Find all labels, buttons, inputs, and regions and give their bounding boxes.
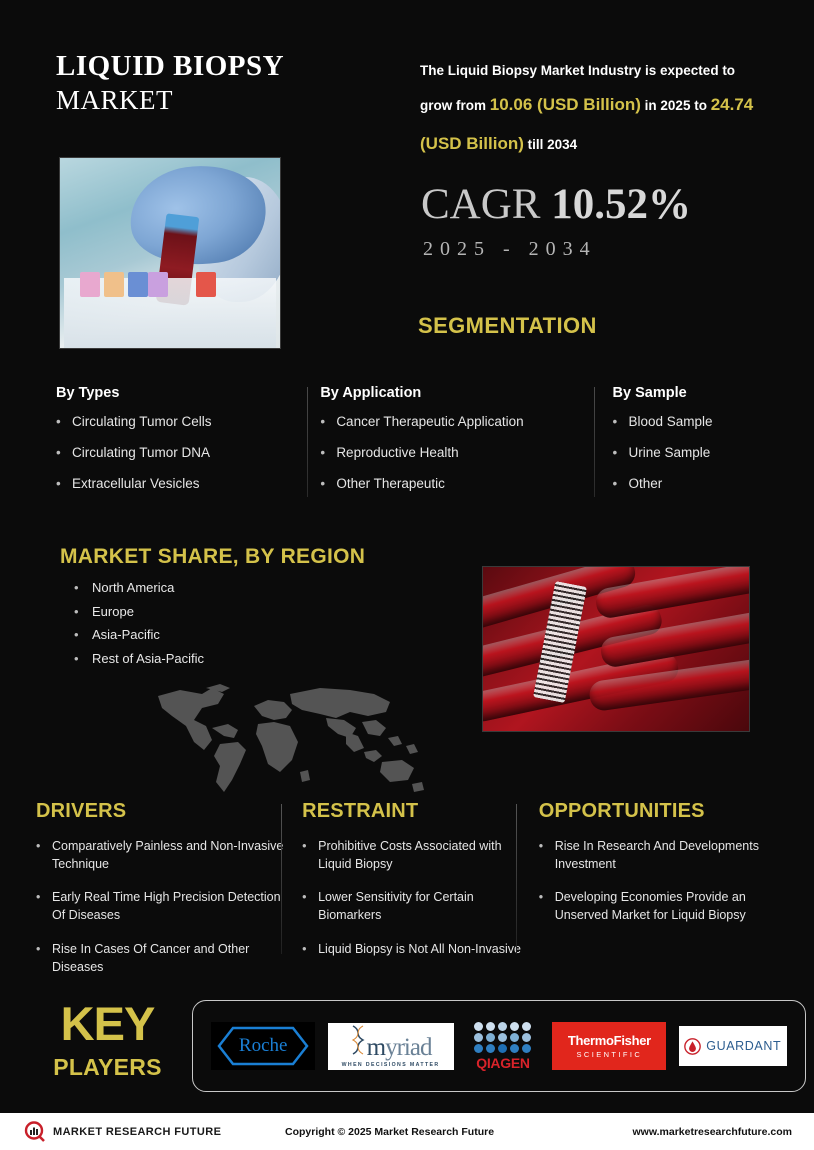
bullet-icon: • — [613, 445, 629, 462]
roche-hexagon-icon: Roche — [217, 1026, 309, 1066]
world-map-icon — [150, 676, 430, 796]
stat-suffix: till 2034 — [528, 137, 578, 152]
segmentation-columns: By Types •Circulating Tumor Cells •Circu… — [56, 385, 762, 507]
logo-roche[interactable]: Roche — [211, 1022, 315, 1070]
cagr-value: 10.52% — [551, 181, 691, 228]
list-item-label: Other — [629, 476, 663, 493]
tube-cap — [196, 272, 216, 297]
thermofisher-subtext: SCIENTIFIC — [577, 1050, 643, 1059]
region-label: North America — [92, 580, 174, 595]
bullet-icon: • — [613, 476, 629, 493]
bullet-icon: • — [56, 476, 72, 493]
blood-drop-icon — [684, 1038, 701, 1055]
myriad-tagline: WHEN DECISIONS MATTER — [342, 1062, 440, 1068]
list-item-label: Urine Sample — [629, 445, 711, 462]
footer-brand[interactable]: MARKET RESEARCH FUTURE — [24, 1121, 221, 1143]
list-item: •Blood Sample — [613, 414, 762, 431]
infographic-page: LIQUID BIOPSY MARKET The Liquid Biopsy M… — [0, 0, 814, 1150]
factors-row: DRIVERS •Comparatively Painless and Non-… — [36, 800, 781, 991]
bullet-icon: • — [74, 604, 92, 619]
bullet-icon: • — [539, 888, 555, 924]
blood-tubes-image — [482, 566, 750, 732]
bullet-icon: • — [320, 445, 336, 462]
thermofisher-wordmark: ThermoFisher — [568, 1033, 651, 1048]
list-item: •Asia-Pacific — [74, 627, 374, 642]
factor-column-drivers: DRIVERS •Comparatively Painless and Non-… — [36, 800, 290, 991]
guardant-wordmark: GUARDANT — [706, 1039, 781, 1053]
bullet-icon: • — [302, 940, 318, 958]
key-label-small: PLAYERS — [30, 1054, 185, 1081]
footer-url[interactable]: www.marketresearchfuture.com — [632, 1126, 792, 1138]
logo-guardant[interactable]: GUARDANT — [679, 1026, 787, 1066]
bullet-icon: • — [74, 580, 92, 595]
segment-heading: By Types — [56, 385, 308, 401]
bullet-icon: • — [320, 476, 336, 493]
footer-brand-name: MARKET RESEARCH FUTURE — [53, 1126, 221, 1138]
cagr-label: CAGR — [421, 181, 540, 228]
bullet-icon: • — [36, 940, 52, 976]
list-item: •Circulating Tumor DNA — [56, 445, 308, 462]
logo-thermofisher[interactable]: ThermoFisher SCIENTIFIC — [552, 1022, 666, 1070]
market-research-future-logo-icon — [24, 1121, 46, 1143]
factor-heading: RESTRAINT — [302, 800, 525, 823]
bullet-icon: • — [36, 837, 52, 873]
region-label: Asia-Pacific — [92, 627, 160, 642]
page-footer: MARKET RESEARCH FUTURE Copyright © 2025 … — [0, 1113, 814, 1150]
region-label: Europe — [92, 604, 134, 619]
list-item: •Comparatively Painless and Non-Invasive… — [36, 837, 290, 873]
bullet-icon: • — [613, 414, 629, 431]
segment-column-types: By Types •Circulating Tumor Cells •Circu… — [56, 385, 308, 507]
factor-item-label: Comparatively Painless and Non-Invasive … — [52, 837, 290, 873]
segment-heading: By Sample — [613, 385, 762, 401]
factor-column-restraint: RESTRAINT •Prohibitive Costs Associated … — [290, 800, 525, 991]
segment-column-sample: By Sample •Blood Sample •Urine Sample •O… — [595, 385, 762, 507]
qiagen-dot-grid-icon — [474, 1022, 532, 1053]
bullet-icon: • — [74, 627, 92, 642]
market-share-region-list: •North America •Europe •Asia-Pacific •Re… — [74, 580, 374, 674]
list-item-label: Blood Sample — [629, 414, 713, 431]
title-line-1: LIQUID BIOPSY — [56, 48, 386, 84]
logo-qiagen[interactable]: QIAGEN — [466, 1022, 540, 1070]
market-stat-text: The Liquid Biopsy Market Industry is exp… — [420, 56, 770, 163]
bullet-icon: • — [302, 888, 318, 924]
segment-heading: By Application — [320, 385, 594, 401]
bullet-icon: • — [74, 651, 92, 666]
list-item-label: Other Therapeutic — [336, 476, 445, 493]
list-item: •Extracellular Vesicles — [56, 476, 308, 493]
tube-cap — [80, 272, 100, 297]
list-item: •Rise In Cases Of Cancer and Other Disea… — [36, 940, 290, 976]
key-players-label: KEY PLAYERS — [30, 1000, 185, 1081]
bullet-icon: • — [36, 888, 52, 924]
factor-heading: OPPORTUNITIES — [539, 800, 781, 823]
cagr-years: 2025 - 2034 — [423, 238, 597, 261]
key-label-big: KEY — [30, 1000, 185, 1047]
factor-item-label: Rise In Research And Developments Invest… — [555, 837, 781, 873]
stat-value-start: 10.06 (USD Billion) — [490, 95, 641, 114]
title-line-2: MARKET — [56, 84, 386, 118]
list-item: •Circulating Tumor Cells — [56, 414, 308, 431]
list-item: •Prohibitive Costs Associated with Liqui… — [302, 837, 525, 873]
market-share-title: MARKET SHARE, BY REGION — [60, 545, 365, 569]
list-item: •Reproductive Health — [320, 445, 594, 462]
segmentation-title: SEGMENTATION — [418, 313, 597, 339]
factor-heading: DRIVERS — [36, 800, 290, 823]
cagr-block: CAGR 10.52% — [421, 183, 691, 226]
column-divider — [281, 804, 282, 954]
tube-cap — [104, 272, 124, 297]
list-item: •Rest of Asia-Pacific — [74, 651, 374, 666]
list-item: •Developing Economies Provide an Unserve… — [539, 888, 781, 924]
bullet-icon: • — [539, 837, 555, 873]
bullet-icon: • — [56, 414, 72, 431]
list-item: •Europe — [74, 604, 374, 619]
factor-item-label: Rise In Cases Of Cancer and Other Diseas… — [52, 940, 290, 976]
footer-copyright: Copyright © 2025 Market Research Future — [285, 1126, 494, 1138]
hero-image-blood-sample — [59, 157, 281, 349]
factor-item-label: Prohibitive Costs Associated with Liquid… — [318, 837, 525, 873]
list-item: •Lower Sensitivity for Certain Biomarker… — [302, 888, 525, 924]
list-item-label: Extracellular Vesicles — [72, 476, 200, 493]
qiagen-wordmark: QIAGEN — [476, 1055, 529, 1071]
tube-cap — [128, 272, 148, 297]
region-label: Rest of Asia-Pacific — [92, 651, 204, 666]
factor-column-opportunities: OPPORTUNITIES •Rise In Research And Deve… — [525, 800, 781, 991]
list-item: •Early Real Time High Precision Detectio… — [36, 888, 290, 924]
list-item: •Rise In Research And Developments Inves… — [539, 837, 781, 873]
page-title: LIQUID BIOPSY MARKET — [56, 48, 386, 118]
list-item: •North America — [74, 580, 374, 595]
list-item-label: Cancer Therapeutic Application — [336, 414, 523, 431]
roche-wordmark: Roche — [239, 1035, 288, 1057]
bullet-icon: • — [320, 414, 336, 431]
list-item: •Liquid Biopsy is Not All Non-Invasive — [302, 940, 525, 958]
factor-item-label: Liquid Biopsy is Not All Non-Invasive — [318, 940, 521, 958]
segment-column-application: By Application •Cancer Therapeutic Appli… — [308, 385, 594, 507]
list-item-label: Circulating Tumor DNA — [72, 445, 210, 462]
key-players-box: Roche myriad WHEN DECISIONS MATTER QIAGE… — [192, 1000, 806, 1092]
factor-item-label: Early Real Time High Precision Detection… — [52, 888, 290, 924]
list-item: •Other — [613, 476, 762, 493]
bullet-icon: • — [302, 837, 318, 873]
logo-myriad[interactable]: myriad WHEN DECISIONS MATTER — [328, 1023, 454, 1070]
list-item: •Other Therapeutic — [320, 476, 594, 493]
list-item: •Urine Sample — [613, 445, 762, 462]
list-item-label: Reproductive Health — [336, 445, 458, 462]
bullet-icon: • — [56, 445, 72, 462]
factor-item-label: Lower Sensitivity for Certain Biomarkers — [318, 888, 525, 924]
column-divider — [516, 804, 517, 954]
dna-helix-icon — [350, 1025, 366, 1055]
factor-item-label: Developing Economies Provide an Unserved… — [555, 888, 781, 924]
myriad-text: myriad — [367, 1035, 432, 1060]
myriad-wordmark-row: myriad — [350, 1025, 432, 1060]
list-item-label: Circulating Tumor Cells — [72, 414, 212, 431]
tube-cap — [148, 272, 168, 297]
list-item: •Cancer Therapeutic Application — [320, 414, 594, 431]
stat-mid: in 2025 to — [645, 98, 707, 113]
